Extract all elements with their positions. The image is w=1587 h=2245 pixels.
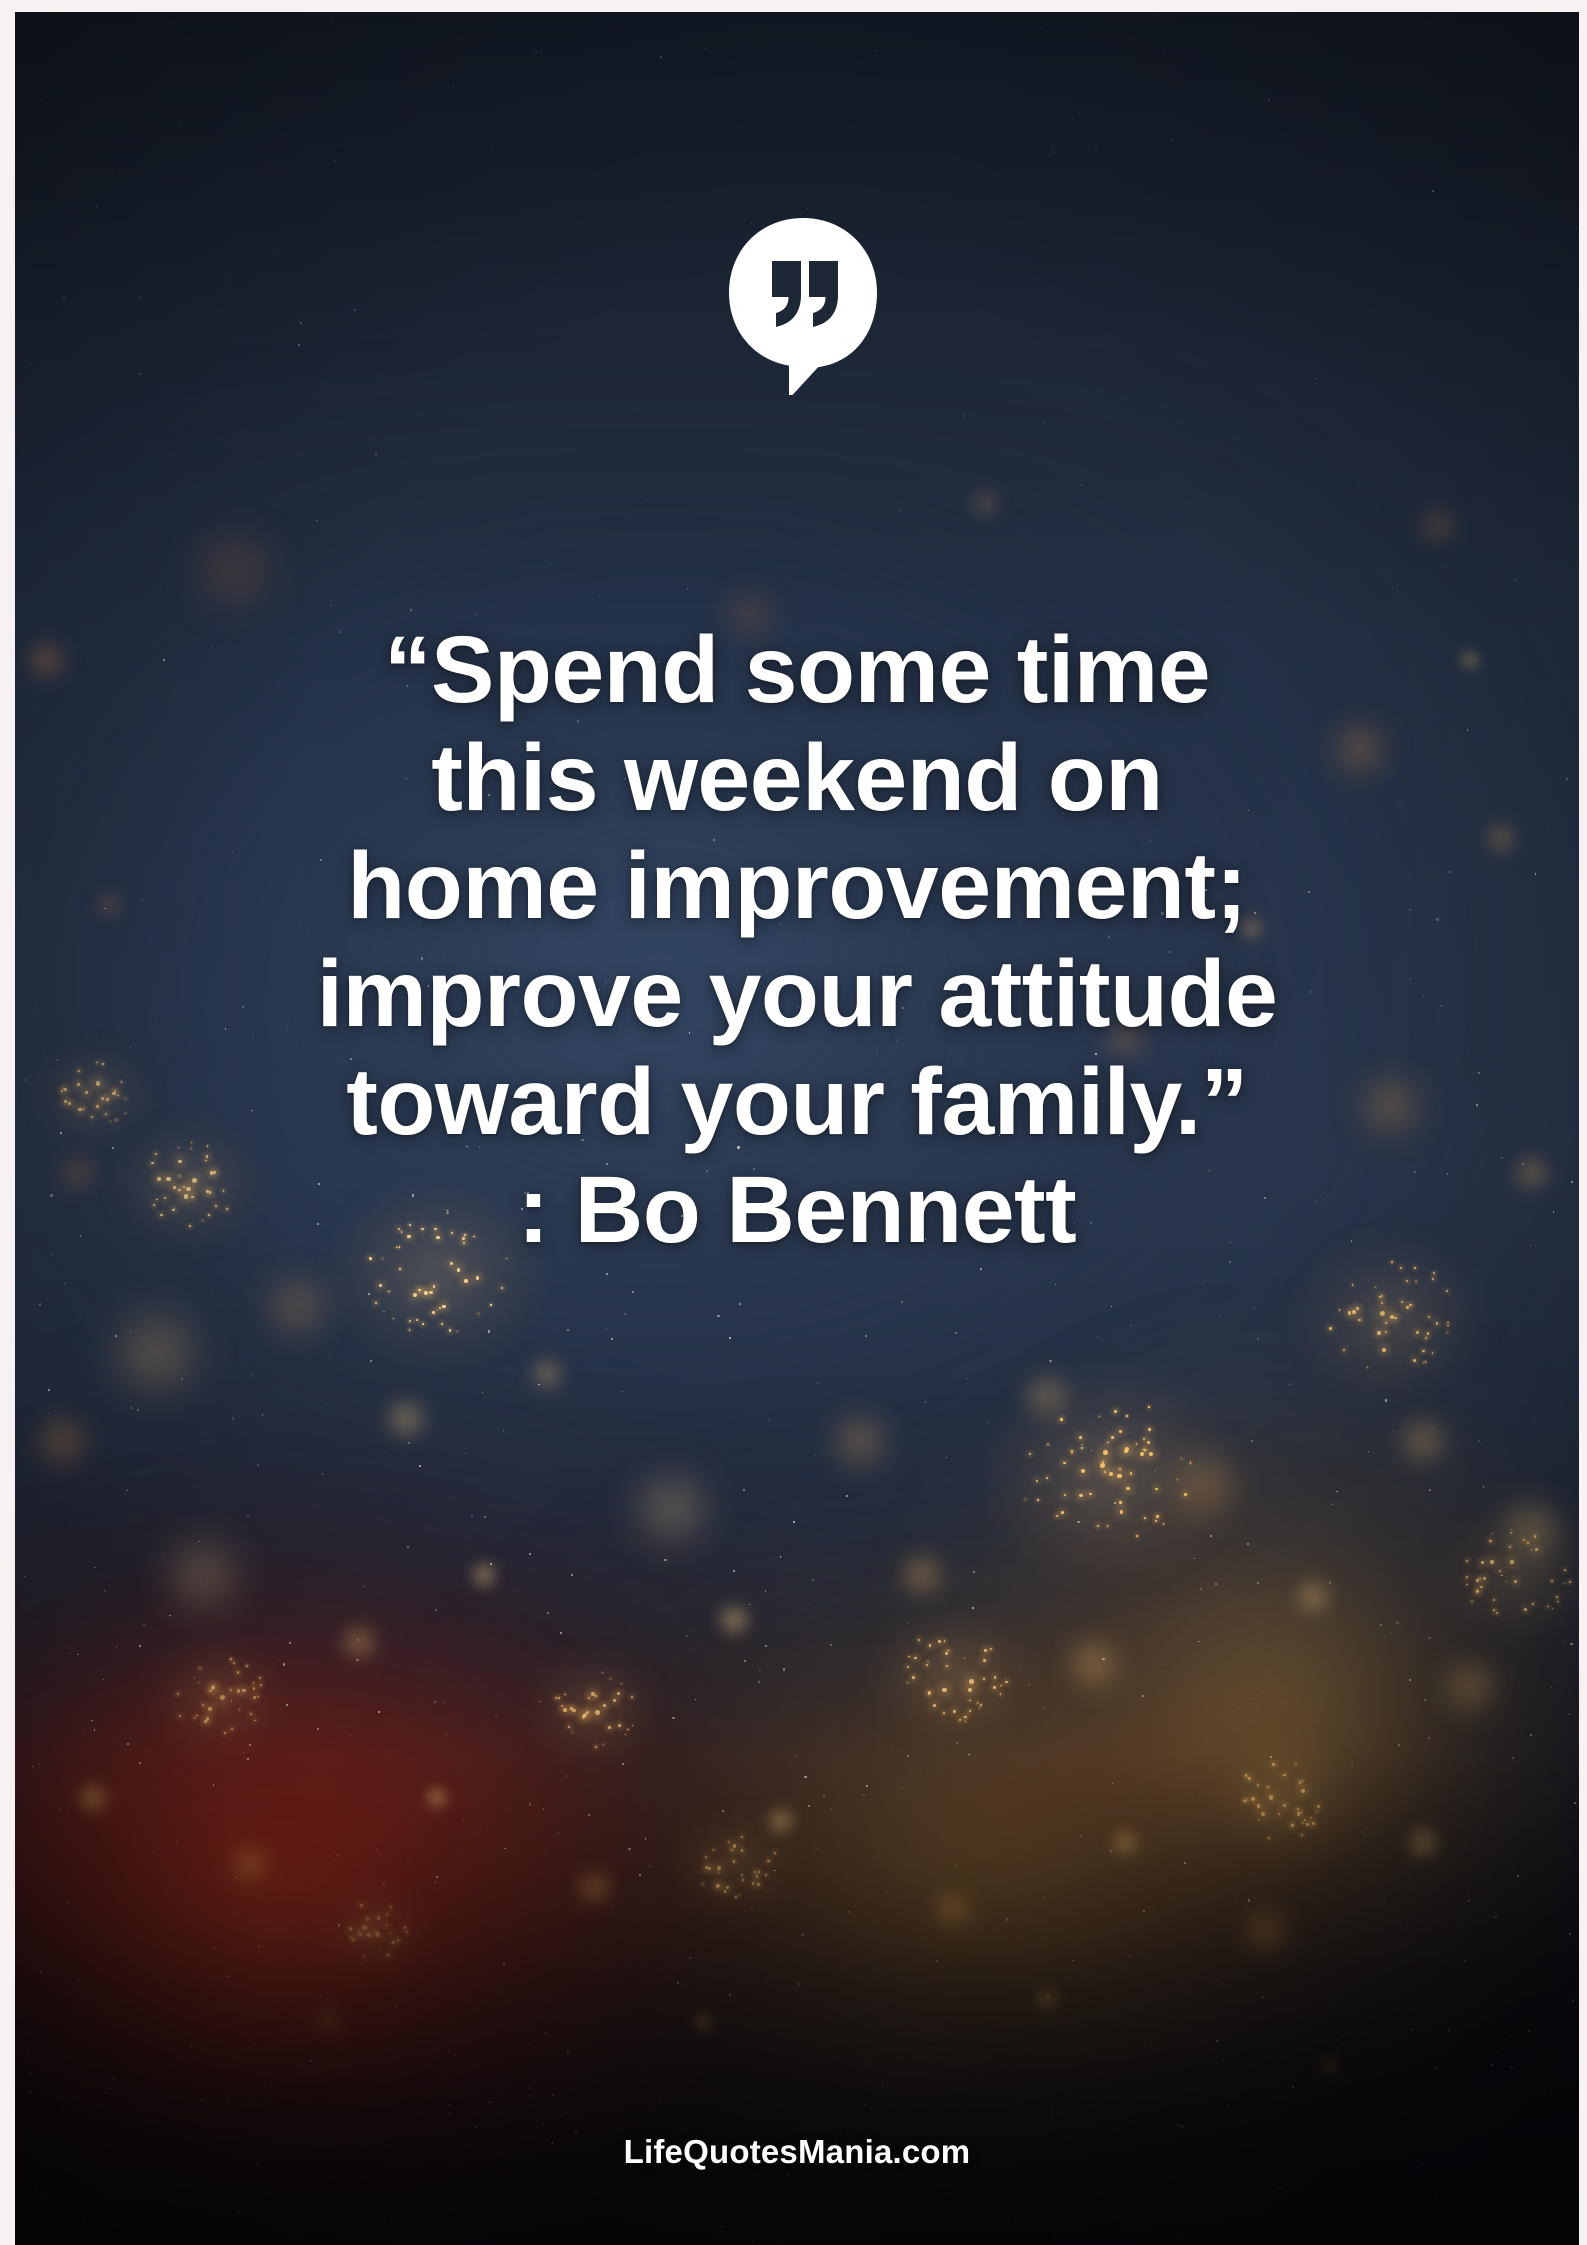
quote-line-5: toward your family.” [85, 1048, 1509, 1156]
quote-author: : Bo Bennett [85, 1156, 1509, 1264]
quote-line-4: improve your attitude [85, 940, 1509, 1048]
quote-text-block: “Spend some time this weekend on home im… [15, 616, 1579, 1264]
watermark-text: LifeQuotesMania.com [624, 2133, 971, 2170]
watermark: LifeQuotesMania.com [15, 2133, 1579, 2171]
quote-bubble-icon [723, 212, 883, 402]
quote-line-2: this weekend on [85, 724, 1509, 832]
quote-poster: “Spend some time this weekend on home im… [0, 0, 1587, 2245]
quote-line-1: “Spend some time [85, 616, 1509, 724]
poster-canvas: “Spend some time this weekend on home im… [15, 12, 1579, 2245]
quote-line-3: home improvement; [85, 832, 1509, 940]
